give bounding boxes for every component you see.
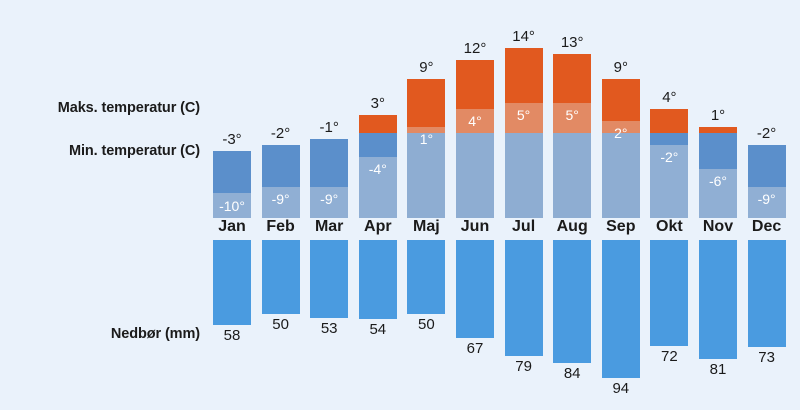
segment-between-cold <box>748 145 786 187</box>
precipitation-value: 53 <box>310 321 348 336</box>
month-label: Sep <box>602 219 640 235</box>
precipitation-bar[interactable] <box>310 240 348 318</box>
temperature-bar[interactable] <box>748 145 786 218</box>
month-label: Jun <box>456 219 494 235</box>
segment-between-cold <box>359 133 397 157</box>
segment-max-temp-warm <box>505 48 543 102</box>
month-label: Dec <box>748 219 786 235</box>
month-column-jul: 14°5°Jul79 <box>505 0 543 410</box>
min-temp-value: 4° <box>456 114 494 128</box>
precipitation-value: 94 <box>602 381 640 396</box>
segment-max-temp-warm <box>407 79 445 127</box>
segment-below-zero <box>505 133 543 218</box>
month-label: Apr <box>359 219 397 235</box>
month-column-feb: -2°-9°Feb50 <box>262 0 300 410</box>
min-temp-value: -9° <box>310 192 348 206</box>
segment-between-cold <box>213 151 251 193</box>
min-temp-value: 2° <box>602 126 640 140</box>
precipitation-bar[interactable] <box>359 240 397 319</box>
month-label: Jul <box>505 219 543 235</box>
max-temp-value: 9° <box>407 60 445 75</box>
precipitation-value: 81 <box>699 362 737 377</box>
month-label: Okt <box>650 219 688 235</box>
max-temp-value: -1° <box>310 120 348 135</box>
min-temp-value: -10° <box>213 199 251 213</box>
month-column-jun: 12°4°Jun67 <box>456 0 494 410</box>
month-column-jan: -3°-10°Jan58 <box>213 0 251 410</box>
precipitation-bar[interactable] <box>407 240 445 314</box>
precipitation-value: 50 <box>262 317 300 332</box>
min-temp-value: -9° <box>748 192 786 206</box>
plot-area: -3°-10°Jan58-2°-9°Feb50-1°-9°Mar533°-4°A… <box>0 0 800 410</box>
precipitation-value: 79 <box>505 359 543 374</box>
max-temp-value: 14° <box>505 29 543 44</box>
month-label: Feb <box>262 219 300 235</box>
min-temp-value: -4° <box>359 162 397 176</box>
month-column-sep: 9°2°Sep94 <box>602 0 640 410</box>
segment-below-zero <box>602 133 640 218</box>
precipitation-bar[interactable] <box>456 240 494 338</box>
max-temp-value: 12° <box>456 41 494 56</box>
max-temp-value: 1° <box>699 108 737 123</box>
precipitation-bar[interactable] <box>505 240 543 356</box>
precipitation-value: 58 <box>213 328 251 343</box>
month-label: Jan <box>213 219 251 235</box>
segment-max-temp-warm <box>553 54 591 102</box>
max-temp-value: 13° <box>553 35 591 50</box>
climate-chart: Maks. temperatur (C) Min. temperatur (C)… <box>0 0 800 410</box>
segment-max-temp-warm <box>359 115 397 133</box>
precipitation-bar[interactable] <box>748 240 786 347</box>
segment-max-temp-warm <box>456 60 494 108</box>
segment-below-zero <box>553 133 591 218</box>
min-temp-value: -2° <box>650 150 688 164</box>
month-column-dec: -2°-9°Dec73 <box>748 0 786 410</box>
month-column-mar: -1°-9°Mar53 <box>310 0 348 410</box>
month-column-nov: 1°-6°Nov81 <box>699 0 737 410</box>
precipitation-bar[interactable] <box>213 240 251 325</box>
segment-between-cold <box>262 145 300 187</box>
temperature-bar[interactable] <box>407 79 445 218</box>
precipitation-bar[interactable] <box>650 240 688 346</box>
min-temp-value: -9° <box>262 192 300 206</box>
month-column-aug: 13°5°Aug84 <box>553 0 591 410</box>
min-temp-value: 1° <box>407 132 445 146</box>
min-temp-value: -6° <box>699 174 737 188</box>
temperature-bar[interactable] <box>505 48 543 218</box>
min-temp-value: 5° <box>553 108 591 122</box>
month-label: Maj <box>407 219 445 235</box>
month-label: Aug <box>553 219 591 235</box>
temperature-bar[interactable] <box>262 145 300 218</box>
segment-max-temp-warm <box>650 109 688 133</box>
temperature-bar[interactable] <box>602 79 640 218</box>
segment-between-cold <box>310 139 348 187</box>
segment-between-cold <box>699 133 737 169</box>
max-temp-value: 9° <box>602 60 640 75</box>
month-column-apr: 3°-4°Apr54 <box>359 0 397 410</box>
month-column-maj: 9°1°Maj50 <box>407 0 445 410</box>
precipitation-bar[interactable] <box>553 240 591 363</box>
temperature-bar[interactable] <box>456 60 494 218</box>
precipitation-value: 73 <box>748 350 786 365</box>
precipitation-bar[interactable] <box>602 240 640 378</box>
precipitation-value: 67 <box>456 341 494 356</box>
temperature-bar[interactable] <box>553 54 591 218</box>
segment-below-zero <box>456 133 494 218</box>
max-temp-value: -2° <box>748 126 786 141</box>
max-temp-value: -2° <box>262 126 300 141</box>
max-temp-value: -3° <box>213 132 251 147</box>
max-temp-value: 4° <box>650 90 688 105</box>
month-label: Nov <box>699 219 737 235</box>
precipitation-bar[interactable] <box>699 240 737 359</box>
precipitation-bar[interactable] <box>262 240 300 314</box>
segment-max-temp-warm <box>602 79 640 121</box>
segment-between-cold <box>650 133 688 145</box>
precipitation-value: 50 <box>407 317 445 332</box>
precipitation-value: 84 <box>553 366 591 381</box>
precipitation-value: 54 <box>359 322 397 337</box>
month-label: Mar <box>310 219 348 235</box>
month-column-okt: 4°-2°Okt72 <box>650 0 688 410</box>
precipitation-value: 72 <box>650 349 688 364</box>
min-temp-value: 5° <box>505 108 543 122</box>
max-temp-value: 3° <box>359 96 397 111</box>
